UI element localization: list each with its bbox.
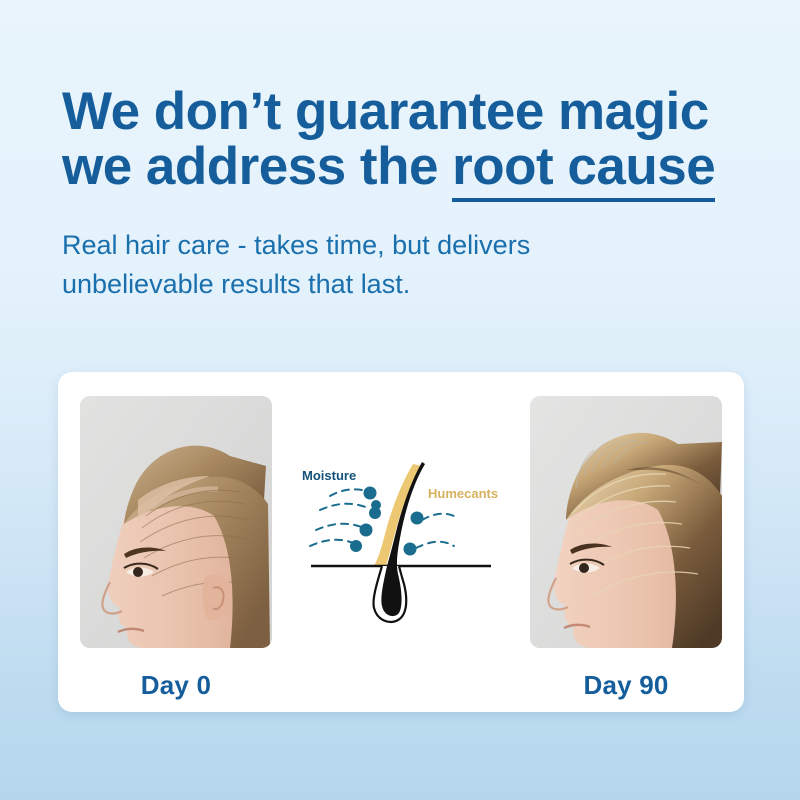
subtitle-line-2: unbelievable results that last. — [62, 265, 662, 303]
before-photo — [80, 396, 272, 648]
before-after-card: Day 0 Moisture Humecants — [58, 372, 744, 712]
after-panel: Day 90 — [530, 396, 722, 701]
after-photo-illustration — [530, 396, 722, 648]
before-panel: Day 0 — [80, 396, 272, 701]
humecant-droplets — [404, 512, 424, 556]
headline-line-2-prefix: we address the — [62, 137, 452, 196]
subtitle-line-1: Real hair care - takes time, but deliver… — [62, 226, 662, 264]
subtitle: Real hair care - takes time, but deliver… — [62, 226, 662, 303]
page-title: We don’t guarantee magic we address the … — [62, 84, 748, 194]
moisture-droplets — [350, 487, 381, 553]
after-photo — [530, 396, 722, 648]
follicle-diagram: Moisture Humecants — [272, 396, 530, 628]
moisture-label: Moisture — [302, 468, 356, 483]
headline-line-2: we address the root cause — [62, 139, 748, 194]
headline-line-1: We don’t guarantee magic — [62, 82, 709, 141]
header-section: We don’t guarantee magic we address the … — [0, 0, 800, 303]
follicle-diagram-svg: Moisture Humecants — [286, 448, 516, 628]
humecants-label: Humecants — [428, 486, 498, 501]
headline-underlined-phrase: root cause — [452, 137, 715, 202]
moisture-flow-lines — [310, 489, 370, 546]
before-label: Day 0 — [141, 670, 211, 701]
after-label: Day 90 — [583, 670, 668, 701]
before-photo-illustration — [80, 396, 272, 648]
